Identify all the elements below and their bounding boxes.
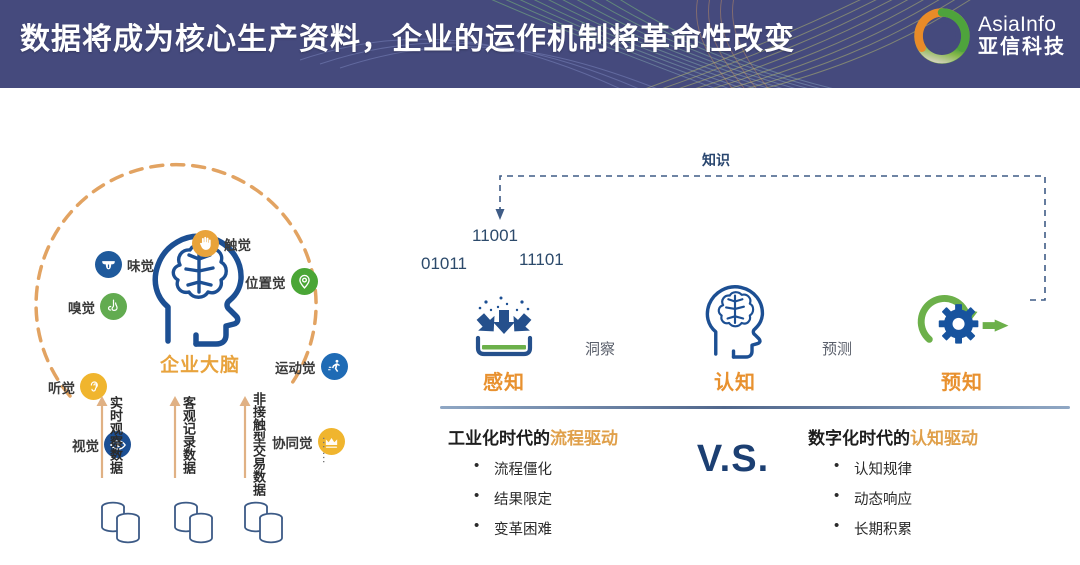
- asiainfo-ring-icon: [914, 8, 970, 64]
- sense-node-touch: 触觉: [192, 230, 251, 257]
- comparison-right-title-prefix: 数字化时代的: [808, 429, 910, 448]
- up-arrow-icon: [238, 394, 252, 480]
- comparison-right-column: 数字化时代的认知驱动 认知规律 动态响应 长期积累: [808, 424, 1073, 548]
- nose-icon: [100, 293, 127, 320]
- data-source-label-contactless: 非接触型交易数据: [252, 392, 265, 496]
- sense-label-touch: 触觉: [224, 234, 251, 254]
- binary-value-top: 11001: [472, 226, 518, 246]
- sense-label-location: 位置觉: [245, 272, 286, 292]
- sense-label-collaboration: 协同觉: [272, 432, 313, 452]
- sense-node-location: 位置觉: [245, 268, 318, 295]
- sense-label-smell: 嗅觉: [68, 297, 95, 317]
- sense-node-taste: 味觉: [95, 251, 154, 278]
- stage-foresight: 预知: [902, 274, 1022, 395]
- comparison-right-title: 数字化时代的认知驱动: [808, 424, 1073, 449]
- binary-value-right: 11101: [519, 250, 564, 270]
- logo-text-en: AsiaInfo: [978, 14, 1066, 36]
- binary-value-left: 01011: [421, 254, 467, 274]
- stage-cognition: 认知: [675, 274, 795, 395]
- comparison-left-column: 工业化时代的流程驱动 流程僵化 结果限定 变革困难: [448, 424, 713, 548]
- gear-cycle-icon: [902, 274, 1022, 360]
- page-title: 数据将成为核心生产资料，企业的运作机制将革命性改变: [20, 14, 795, 58]
- list-item: 变革困难: [494, 518, 713, 539]
- cognition-flow-panel: 知识 11001 01011 11101: [430, 88, 1080, 565]
- enterprise-brain-panel: 企业大脑 触觉 味觉: [0, 88, 430, 565]
- section-divider: [440, 406, 1070, 409]
- database-icon: [97, 496, 149, 546]
- comparison-left-title-accent: 流程驱动: [550, 429, 618, 448]
- logo-text-cn: 亚信科技: [978, 37, 1066, 58]
- stage-name-perception: 感知: [444, 366, 564, 395]
- brain-head-icon: [675, 274, 795, 360]
- comparison-left-title: 工业化时代的流程驱动: [448, 424, 713, 449]
- list-item: 动态响应: [854, 488, 1073, 509]
- comparison-left-title-prefix: 工业化时代的: [448, 429, 550, 448]
- sense-node-smell: 嗅觉: [68, 293, 127, 320]
- hand-icon: [192, 230, 219, 257]
- comparison-left-bullets: 流程僵化 结果限定 变革困难: [448, 458, 713, 539]
- data-source-ellipsis: ……: [320, 436, 335, 466]
- slide-body: 企业大脑 触觉 味觉: [0, 88, 1080, 565]
- list-item: 认知规律: [854, 458, 1073, 479]
- sense-node-motion: 运动觉: [275, 353, 348, 380]
- stage-name-cognition: 认知: [675, 366, 795, 395]
- sense-label-motion: 运动觉: [275, 357, 316, 377]
- stage-perception: 感知: [444, 274, 564, 395]
- comparison-right-title-accent: 认知驱动: [910, 429, 978, 448]
- versus-block: V.S.: [678, 438, 788, 481]
- enterprise-brain-label: 企业大脑: [125, 350, 275, 377]
- location-pin-icon: [291, 268, 318, 295]
- up-arrow-icon: [168, 394, 182, 480]
- data-source-label-objective: 客观记录数据: [182, 396, 195, 474]
- database-icon: [240, 496, 292, 546]
- data-source-label-realtime: 实时观察数据: [109, 396, 122, 474]
- funnel-intake-icon: [444, 274, 564, 360]
- runner-icon: [321, 353, 348, 380]
- up-arrow-icon: [95, 394, 109, 480]
- brand-logo: AsiaInfo 亚信科技: [914, 8, 1066, 64]
- database-icon: [170, 496, 222, 546]
- versus-label: V.S.: [678, 438, 788, 481]
- comparison-right-bullets: 认知规律 动态响应 长期积累: [808, 458, 1073, 539]
- tongue-icon: [95, 251, 122, 278]
- slide-header: 数据将成为核心生产资料，企业的运作机制将革命性改变 AsiaInfo 亚信科技: [0, 0, 1080, 88]
- transition-label-insight: 洞察: [585, 338, 615, 359]
- sense-label-hearing: 听觉: [48, 377, 75, 397]
- stage-name-foresight: 预知: [902, 366, 1022, 395]
- transition-label-prediction: 预测: [822, 338, 852, 359]
- sense-label-taste: 味觉: [127, 255, 154, 275]
- list-item: 长期积累: [854, 518, 1073, 539]
- list-item: 结果限定: [494, 488, 713, 509]
- knowledge-label: 知识: [702, 150, 730, 170]
